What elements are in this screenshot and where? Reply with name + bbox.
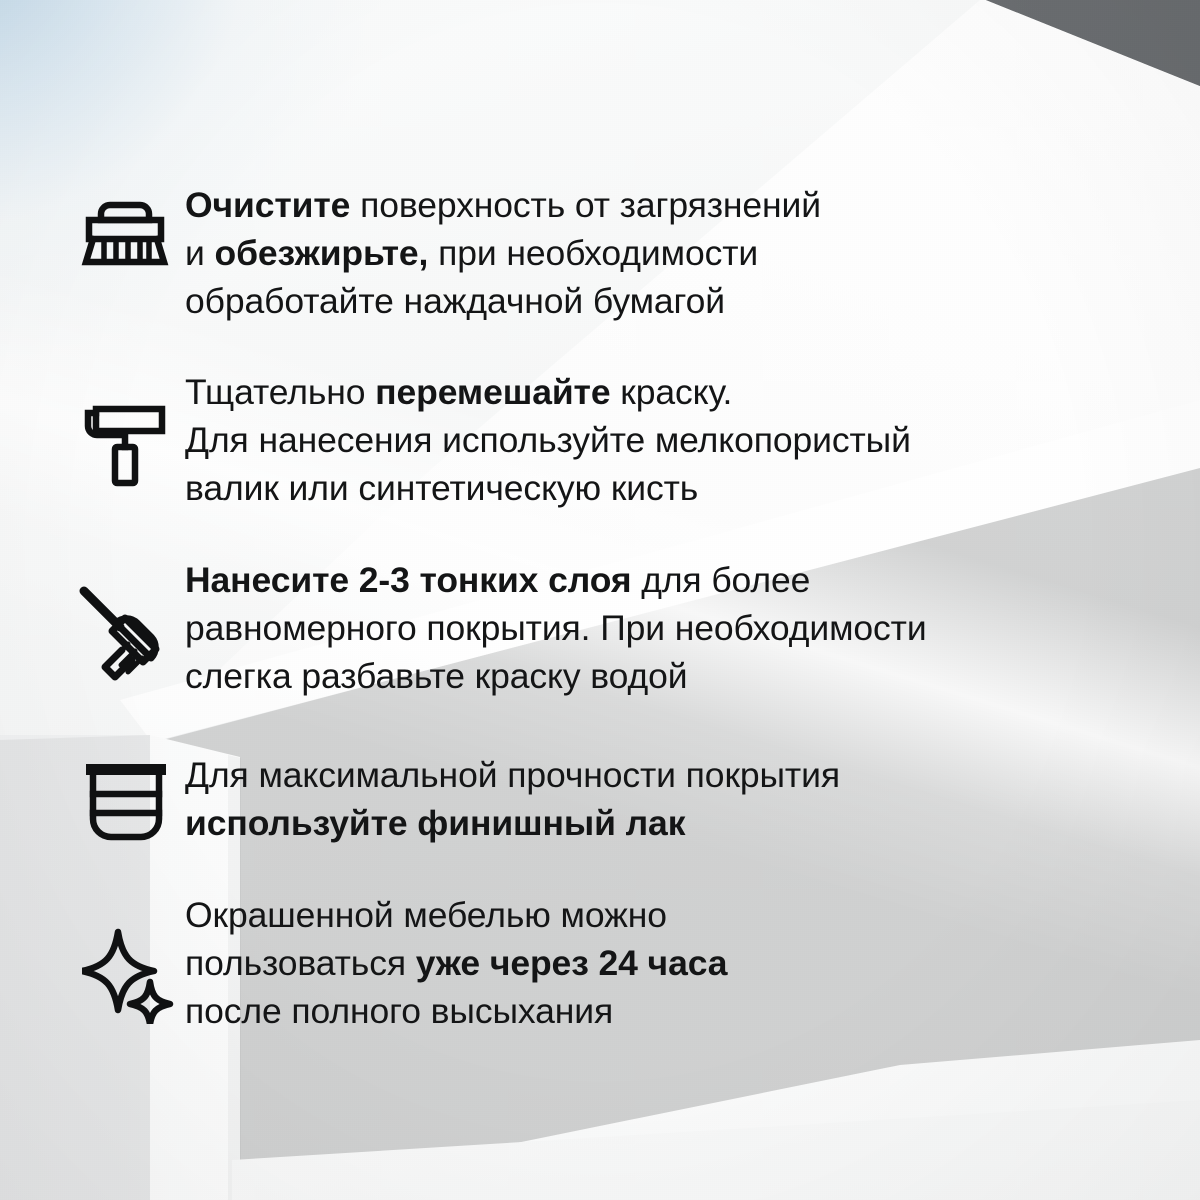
body-text: и <box>185 233 215 273</box>
emphasis-text: уже через 24 часа <box>416 943 728 983</box>
body-text: после полного высыхания <box>185 991 613 1031</box>
paint-roller-icon <box>79 400 171 492</box>
poster-canvas: Очистите поверхность от загрязненийи обе… <box>0 0 1200 1200</box>
body-text: равномерного покрытия. При необходимости <box>185 608 927 648</box>
instruction-step-list: Очистите поверхность от загрязненийи обе… <box>0 0 1200 1200</box>
emphasis-text: Очистите <box>185 185 360 225</box>
body-text: Для нанесения используйте мелкопористый <box>185 420 911 460</box>
instruction-step-text: Нанесите 2-3 тонких слоя для болееравном… <box>185 556 927 700</box>
body-text: для более <box>631 560 810 600</box>
body-text: Для максимальной прочности покрытия <box>185 755 840 795</box>
body-text: слегка разбавьте краску водой <box>185 656 687 696</box>
instruction-step-text: Очистите поверхность от загрязненийи обе… <box>185 181 821 325</box>
body-text: обработайте наждачной бумагой <box>185 281 725 321</box>
sparkle-icon <box>82 928 174 1024</box>
body-text: валик или синтетическую кисть <box>185 468 698 508</box>
paint-can-icon <box>82 752 170 844</box>
instruction-step-text: Для максимальной прочности покрытияиспол… <box>185 751 840 847</box>
instruction-step-text: Тщательно перемешайте краску.Для нанесен… <box>185 368 911 512</box>
emphasis-text: перемешайте <box>375 372 610 412</box>
emphasis-text: используйте финишный лак <box>185 803 685 843</box>
body-text: при необходимости <box>428 233 758 273</box>
instruction-step-text: Окрашенной мебелью можнопользоваться уже… <box>185 891 727 1035</box>
emphasis-text: Нанесите 2-3 тонких слоя <box>185 560 631 600</box>
body-text: пользоваться <box>185 943 416 983</box>
emphasis-text: обезжирьте, <box>215 233 429 273</box>
body-text: поверхность от загрязнений <box>360 185 821 225</box>
body-text: Окрашенной мебелью можно <box>185 895 667 935</box>
scrub-brush-icon <box>79 186 171 278</box>
body-text: краску. <box>611 372 733 412</box>
body-text: Тщательно <box>185 372 375 412</box>
paint-brush-icon <box>72 578 176 682</box>
